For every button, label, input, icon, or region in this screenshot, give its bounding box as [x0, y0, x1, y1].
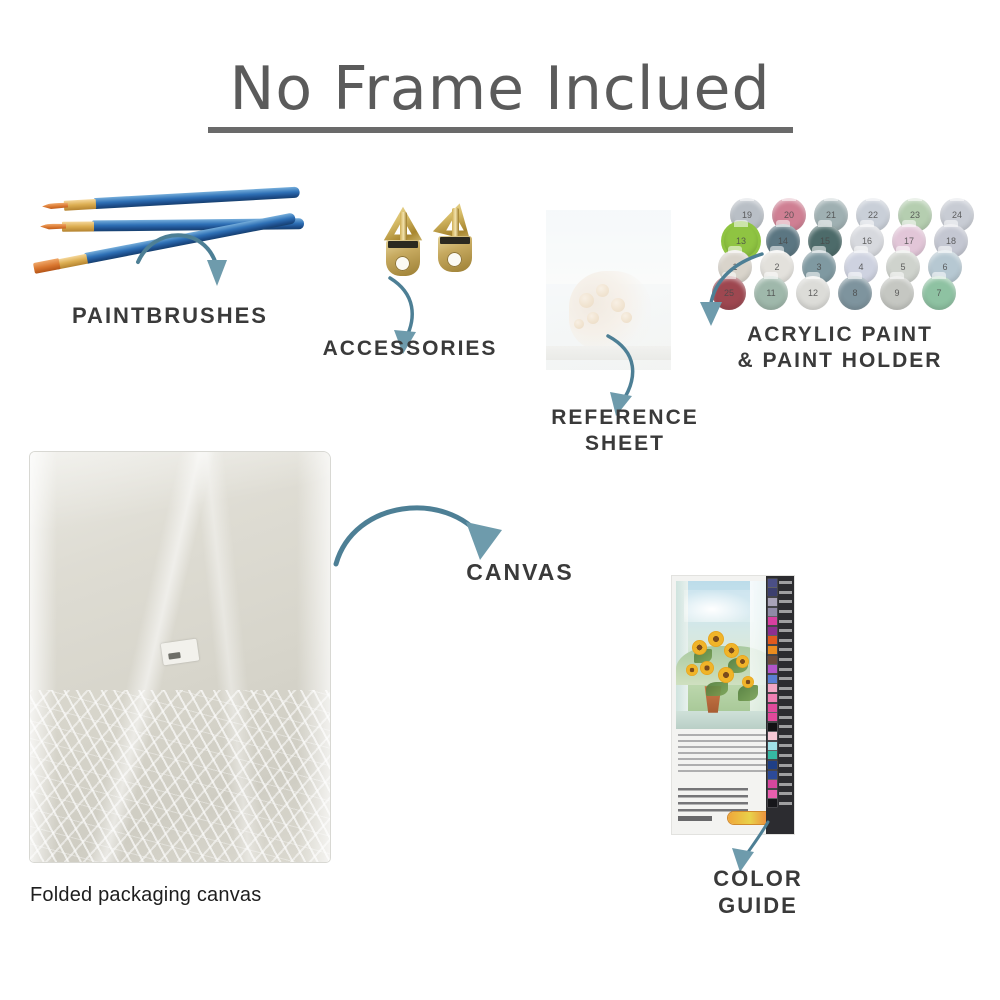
color-swatch-label: [779, 792, 792, 795]
guide-sunflower: [742, 676, 754, 688]
color-swatch-22: [768, 780, 777, 788]
swatch-row: [766, 789, 794, 799]
paint-pot-number: 24: [952, 210, 962, 220]
color-swatch-18: [768, 742, 777, 750]
hanger-slot: [388, 241, 418, 248]
guide-swatch-strip: [766, 576, 794, 834]
guide-instructions-text: [678, 734, 774, 776]
color-swatch-2: [768, 588, 777, 596]
paint-pot-number: 15: [820, 236, 830, 246]
paint-pot-number: 17: [904, 236, 914, 246]
color-swatch-label: [779, 581, 792, 584]
paint-pot-number: 16: [862, 236, 872, 246]
paint-pot-12: 12: [796, 276, 830, 310]
paint-pot-number: 22: [868, 210, 878, 220]
bag-label-tag: [161, 638, 200, 665]
swatch-row: [766, 664, 794, 674]
color-swatch-label: [779, 620, 792, 623]
paint-pot-number: 18: [946, 236, 956, 246]
color-guide-card-icon: [672, 576, 794, 834]
guide-sunflower: [686, 664, 698, 676]
color-swatch-7: [768, 636, 777, 644]
brush-bristle: [33, 258, 61, 274]
color-swatch-label: [779, 706, 792, 709]
color-swatch-label: [779, 610, 792, 613]
d-ring-hanger-icon: [380, 198, 490, 278]
color-swatch-label: [779, 735, 792, 738]
color-swatch-label: [779, 764, 792, 767]
color-swatch-9: [768, 656, 777, 664]
swatch-row: [766, 616, 794, 626]
canvas-label: CANVAS: [400, 558, 640, 586]
guide-sunflower: [718, 667, 734, 683]
guide-cloud: [684, 590, 754, 623]
swatch-row: [766, 760, 794, 770]
paint-pot-number: 5: [900, 262, 905, 272]
color-swatch-label: [779, 696, 792, 699]
brush-ferrule: [64, 198, 97, 210]
color-swatch-label: [779, 773, 792, 776]
paint-pot-number: 9: [894, 288, 899, 298]
brush-ferrule: [62, 221, 94, 231]
color-swatch-label: [779, 658, 792, 661]
swatch-row: [766, 751, 794, 761]
paint-pot-number: 6: [942, 262, 947, 272]
hanger-hole: [447, 252, 462, 267]
canvas-bag-caption: Folded packaging canvas: [30, 884, 360, 907]
page-title: No Frame Inclued: [0, 58, 1000, 121]
swatch-row: [766, 770, 794, 780]
color-swatch-17: [768, 732, 777, 740]
paint-pot-7: 7: [922, 276, 956, 310]
swatch-row: [766, 799, 794, 809]
swatch-row: [766, 779, 794, 789]
hanger-screw: [452, 208, 459, 238]
paint-pot-8: 8: [838, 276, 872, 310]
color-swatch-5: [768, 617, 777, 625]
swatch-row: [766, 741, 794, 751]
paint-pot-number: 20: [784, 210, 794, 220]
brush-handle: [94, 187, 300, 209]
guide-product-name-text: [678, 788, 748, 812]
reference-sheet-label: REFERENCE SHEET: [500, 405, 750, 456]
color-swatch-label: [779, 744, 792, 747]
color-swatch-label: [779, 754, 792, 757]
color-swatch-label: [779, 591, 792, 594]
color-swatch-label: [779, 677, 792, 680]
color-swatch-label: [779, 783, 792, 786]
paint-pot-number: 8: [852, 288, 857, 298]
paint-pot-number: 3: [816, 262, 821, 272]
paint-pot-number: 14: [778, 236, 788, 246]
guide-painting-preview: [676, 581, 776, 729]
hanger-screw: [400, 212, 407, 242]
color-swatch-8: [768, 646, 777, 654]
color-swatch-label: [779, 648, 792, 651]
color-swatch-14: [768, 704, 777, 712]
swatch-row: [766, 655, 794, 665]
swatch-row: [766, 722, 794, 732]
color-swatch-10: [768, 665, 777, 673]
hanger-slot: [440, 237, 470, 244]
swatch-row: [766, 732, 794, 742]
guide-leaf: [706, 682, 728, 696]
color-swatch-11: [768, 675, 777, 683]
swatch-row: [766, 607, 794, 617]
paint-pot-number: 7: [936, 288, 941, 298]
color-swatch-23: [768, 790, 777, 798]
color-swatch-21: [768, 771, 777, 779]
color-swatch-13: [768, 694, 777, 702]
title-underline: [208, 127, 793, 133]
color-swatch-1: [768, 579, 777, 587]
guide-windowsill: [676, 711, 776, 729]
swatch-row: [766, 703, 794, 713]
swatch-row: [766, 712, 794, 722]
color-swatch-24: [768, 799, 777, 807]
swatch-row: [766, 684, 794, 694]
color-swatch-label: [779, 639, 792, 642]
paintbrush-1: [42, 187, 300, 212]
paint-pot-number: 21: [826, 210, 836, 220]
color-guide-label: COLOR GUIDE: [658, 866, 858, 920]
acrylic-paint-label: ACRYLIC PAINT & PAINT HOLDER: [690, 322, 990, 373]
accessories-label: ACCESSORIES: [295, 336, 525, 362]
color-swatch-3: [768, 598, 777, 606]
swatch-row: [766, 693, 794, 703]
paint-pot-number: 13: [736, 236, 746, 246]
guide-sunflower: [700, 661, 714, 675]
swatch-row: [766, 597, 794, 607]
color-swatch-16: [768, 723, 777, 731]
color-swatch-19: [768, 751, 777, 759]
paintbrushes-label: PAINTBRUSHES: [10, 303, 330, 330]
color-swatch-label: [779, 668, 792, 671]
brush-bristle: [40, 223, 66, 229]
color-swatch-label: [779, 687, 792, 690]
swatch-row: [766, 588, 794, 598]
paint-pot-number: 4: [858, 262, 863, 272]
paint-pot-9: 9: [880, 276, 914, 310]
paint-pot-number: 12: [808, 288, 818, 298]
color-swatch-label: [779, 716, 792, 719]
guide-sku-text: [678, 816, 712, 821]
swatch-row: [766, 626, 794, 636]
swatch-row: [766, 578, 794, 588]
swatch-row: [766, 636, 794, 646]
paint-pot-number: 23: [910, 210, 920, 220]
color-swatch-label: [779, 725, 792, 728]
color-swatch-12: [768, 684, 777, 692]
color-swatch-20: [768, 761, 777, 769]
paintbrushes-arrow: [130, 212, 270, 307]
infographic-canvas: No Frame Inclued PAINTBRUSHES: [0, 0, 1000, 1000]
color-swatch-4: [768, 608, 777, 616]
guide-sunflower: [708, 631, 724, 647]
hanger-hole: [395, 256, 410, 271]
bag-crinkle-wrap: [30, 690, 330, 862]
color-swatch-label: [779, 629, 792, 632]
swatch-row: [766, 645, 794, 655]
hanger-2: [432, 202, 478, 278]
swatch-row: [766, 674, 794, 684]
color-swatch-label: [779, 802, 792, 805]
color-swatch-label: [779, 600, 792, 603]
page-title-block: No Frame Inclued: [0, 58, 1000, 133]
paint-pot-number: 19: [742, 210, 752, 220]
canvas-bag-icon: [30, 452, 330, 862]
hanger-1: [380, 206, 426, 282]
guide-sunflower: [736, 655, 749, 668]
color-swatch-15: [768, 713, 777, 721]
color-swatch-6: [768, 627, 777, 635]
